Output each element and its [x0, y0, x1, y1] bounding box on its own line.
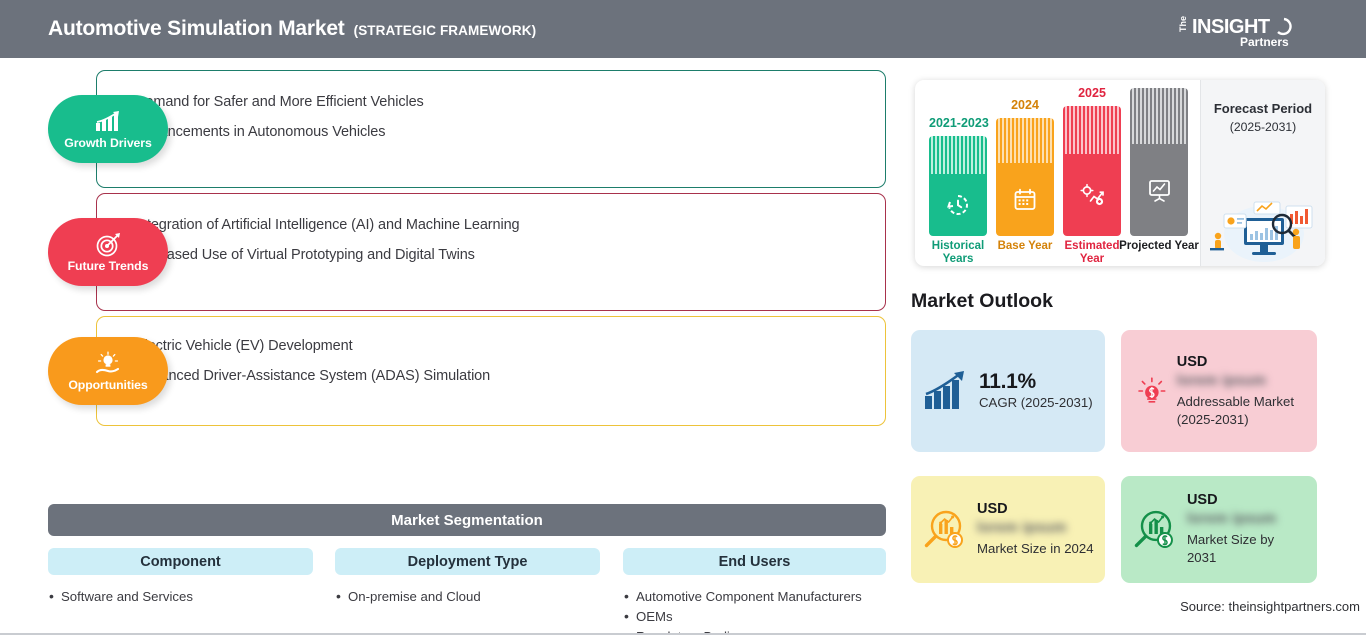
masked-value: lorem ipsum	[1177, 373, 1307, 389]
badge-future-trends[interactable]: Future Trends	[48, 218, 168, 286]
segment-component: Component Software and Services	[48, 548, 313, 607]
masked-value: lorem ipsum	[977, 520, 1094, 536]
segment-header[interactable]: End Users	[623, 548, 886, 575]
card-label: Addressable Market (2025-2031)	[1177, 393, 1307, 429]
list-item: On-premise and Cloud	[335, 587, 600, 607]
forecast-bar-historical: 2021-2023 Historical Years	[929, 136, 987, 236]
list-item: OEMs	[623, 607, 886, 627]
bar-shape	[1063, 106, 1121, 236]
outlook-card-market-size-2024[interactable]: USD lorem ipsum Market Size in 2024	[911, 476, 1105, 583]
logo-arc-icon	[1278, 19, 1291, 34]
market-outlook-title: Market Outlook	[911, 290, 1053, 313]
forecast-period-panel: Forecast Period (2025-2031)	[1200, 80, 1325, 266]
opportunities-list: Electric Vehicle (EV) Development Enhanc…	[117, 337, 865, 386]
page-header: Automotive Simulation Market (STRATEGIC …	[0, 0, 1366, 58]
segment-list: Software and Services	[48, 587, 313, 607]
segment-end-users: End Users Automotive Component Manufactu…	[623, 548, 886, 635]
bar-shape	[1130, 88, 1188, 236]
page-subtitle: (STRATEGIC FRAMEWORK)	[354, 23, 537, 38]
badge-label: Future Trends	[68, 259, 149, 273]
cagr-label: CAGR (2025-2031)	[979, 394, 1093, 412]
cagr-value: 11.1%	[979, 370, 1093, 394]
list-item: Integration of Artificial Intelligence (…	[117, 216, 865, 236]
forecast-bar-estimated: 2025	[1063, 106, 1121, 236]
forecast-period-title: Forecast Period	[1201, 100, 1325, 118]
opportunities-box: Electric Vehicle (EV) Development Enhanc…	[96, 316, 886, 426]
forecast-bar-projected: 2031 Projected Year	[1130, 88, 1188, 236]
growth-drivers-box: Demand for Safer and More Efficient Vehi…	[96, 70, 886, 188]
target-dart-icon	[93, 232, 123, 258]
list-item: Advancements in Autonomous Vehicles	[117, 123, 865, 143]
bar-year: 2025	[1063, 86, 1121, 100]
logo-partners: Partners	[1240, 35, 1289, 49]
card-label: Market Size by 2031	[1187, 531, 1307, 567]
segment-list: Automotive Component Manufacturers OEMs …	[623, 587, 886, 635]
badge-growth-drivers[interactable]: Growth Drivers	[48, 95, 168, 163]
outlook-card-addressable-market[interactable]: USD lorem ipsum Addressable Market (2025…	[1121, 330, 1317, 452]
lightbulb-hand-icon	[93, 351, 123, 377]
bar-year: 2031	[1130, 80, 1188, 82]
page-title: Automotive Simulation Market	[48, 17, 345, 41]
currency-label: USD	[1187, 492, 1307, 508]
insight-partners-logo: The INSIGHT Partners	[1178, 8, 1308, 50]
badge-label: Opportunities	[68, 378, 147, 392]
segment-list: On-premise and Cloud	[335, 587, 600, 607]
future-trends-list: Integration of Artificial Intelligence (…	[117, 216, 865, 265]
source-attribution: Source: theinsightpartners.com	[1180, 599, 1360, 614]
list-item: Enhanced Driver-Assistance System (ADAS)…	[117, 367, 865, 387]
forecast-bars: 2021-2023 Historical Years	[915, 80, 1200, 266]
market-segmentation-title: Market Segmentation	[391, 512, 543, 529]
infographic-page: Automotive Simulation Market (STRATEGIC …	[0, 0, 1366, 635]
bar-chart-arrow-icon	[93, 109, 123, 135]
forecast-period-years: (2025-2031)	[1201, 120, 1325, 134]
segment-deployment-type: Deployment Type On-premise and Cloud	[335, 548, 600, 607]
forecast-bar-base: 2024	[996, 118, 1054, 236]
currency-label: USD	[977, 501, 1094, 517]
segment-title: Component	[140, 554, 221, 570]
forecast-gear-icon	[1079, 182, 1106, 208]
list-item: Software and Services	[48, 587, 313, 607]
left-column: Demand for Safer and More Efficient Vehi…	[0, 58, 900, 635]
masked-value: lorem ipsum	[1187, 511, 1307, 527]
bar-year: 2024	[996, 98, 1054, 112]
list-item: Electric Vehicle (EV) Development	[117, 337, 865, 357]
segment-title: Deployment Type	[408, 554, 528, 570]
bar-year: 2021-2023	[929, 116, 987, 130]
market-segmentation-header: Market Segmentation	[48, 504, 886, 536]
segment-header[interactable]: Component	[48, 548, 313, 575]
forecast-period-card: 2021-2023 Historical Years	[915, 80, 1325, 266]
outlook-card-cagr[interactable]: 11.1% CAGR (2025-2031)	[911, 330, 1105, 452]
outlook-card-market-size-2031[interactable]: USD lorem ipsum Market Size by 2031	[1121, 476, 1317, 583]
currency-label: USD	[1177, 354, 1307, 370]
growth-bar-chart-icon	[923, 370, 969, 412]
bar-shape	[929, 136, 987, 236]
badge-opportunities[interactable]: Opportunities	[48, 337, 168, 405]
right-column: 2021-2023 Historical Years	[905, 58, 1366, 635]
magnifier-chart-icon	[921, 507, 967, 553]
segment-title: End Users	[719, 554, 791, 570]
list-item: Increased Use of Virtual Prototyping and…	[117, 246, 865, 266]
bar-shape	[996, 118, 1054, 236]
magnifier-chart-icon	[1131, 507, 1177, 553]
badge-label: Growth Drivers	[64, 136, 151, 150]
logo-the: The	[1178, 16, 1188, 32]
lightbulb-dollar-icon	[1137, 368, 1167, 414]
list-item: Automotive Component Manufacturers	[623, 587, 886, 607]
segment-header[interactable]: Deployment Type	[335, 548, 600, 575]
card-label: Market Size in 2024	[977, 540, 1094, 558]
clock-history-icon	[945, 192, 971, 218]
analytics-team-illustration	[1204, 190, 1324, 262]
calendar-icon	[1012, 187, 1038, 213]
growth-drivers-list: Demand for Safer and More Efficient Vehi…	[117, 93, 865, 142]
bar-category: Projected Year	[1119, 240, 1199, 253]
list-item: Demand for Safer and More Efficient Vehi…	[117, 93, 865, 113]
future-trends-box: Integration of Artificial Intelligence (…	[96, 193, 886, 311]
presentation-chart-icon	[1146, 177, 1173, 203]
